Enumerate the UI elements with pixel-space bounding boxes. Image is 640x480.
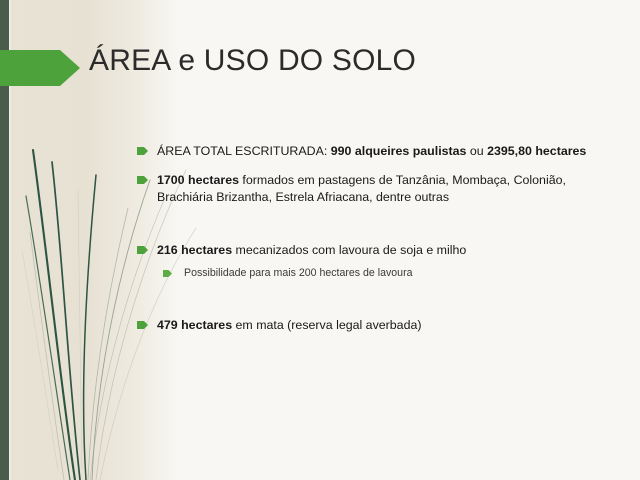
- list-item: 216 hectares mecanizados com lavoura de …: [133, 242, 613, 259]
- page-title: ÁREA e USO DO SOLO: [89, 44, 416, 78]
- spacer: [133, 259, 613, 266]
- bullet-text-seg: ou: [466, 144, 487, 158]
- bullet-text-seg: ÁREA TOTAL ESCRITURADA:: [157, 144, 331, 158]
- spacer: [133, 206, 613, 230]
- bullet-text-seg: 1700 hectares: [157, 173, 239, 187]
- slide-canvas: ÁREA e USO DO SOLO ÁREA TOTAL ESCRITURAD…: [0, 0, 640, 480]
- green-arrow-bullet-icon: [137, 176, 148, 184]
- list-item-sub: Possibilidade para mais 200 hectares de …: [133, 266, 613, 281]
- spacer: [133, 281, 613, 305]
- spacer: [133, 160, 613, 172]
- green-arrow-bullet-icon: [137, 246, 148, 254]
- bullet-text-seg: 479 hectares: [157, 318, 232, 332]
- bullet-text-seg: em mata (reserva legal averbada): [232, 318, 421, 332]
- bullet-text-seg: 2395,80 hectares: [487, 144, 586, 158]
- list-item: ÁREA TOTAL ESCRITURADA: 990 alqueires pa…: [133, 143, 613, 160]
- green-arrow-bullet-small-icon: [163, 270, 172, 277]
- list-item: 1700 hectares formados em pastagens de T…: [133, 172, 613, 206]
- green-arrow-bullet-icon: [137, 321, 148, 329]
- spacer: [133, 305, 613, 317]
- bullet-text-seg: mecanizados com lavoura de soja e milho: [232, 243, 466, 257]
- green-arrow-bullet-icon: [137, 147, 148, 155]
- spacer: [133, 230, 613, 242]
- bullet-text-seg: Possibilidade para mais 200 hectares de …: [184, 267, 413, 279]
- title-arrow-icon: [0, 50, 80, 86]
- list-item: 479 hectares em mata (reserva legal aver…: [133, 317, 613, 334]
- bullet-list: ÁREA TOTAL ESCRITURADA: 990 alqueires pa…: [133, 143, 613, 334]
- bullet-text-seg: 216 hectares: [157, 243, 232, 257]
- bullet-text-seg: 990 alqueires paulistas: [331, 144, 467, 158]
